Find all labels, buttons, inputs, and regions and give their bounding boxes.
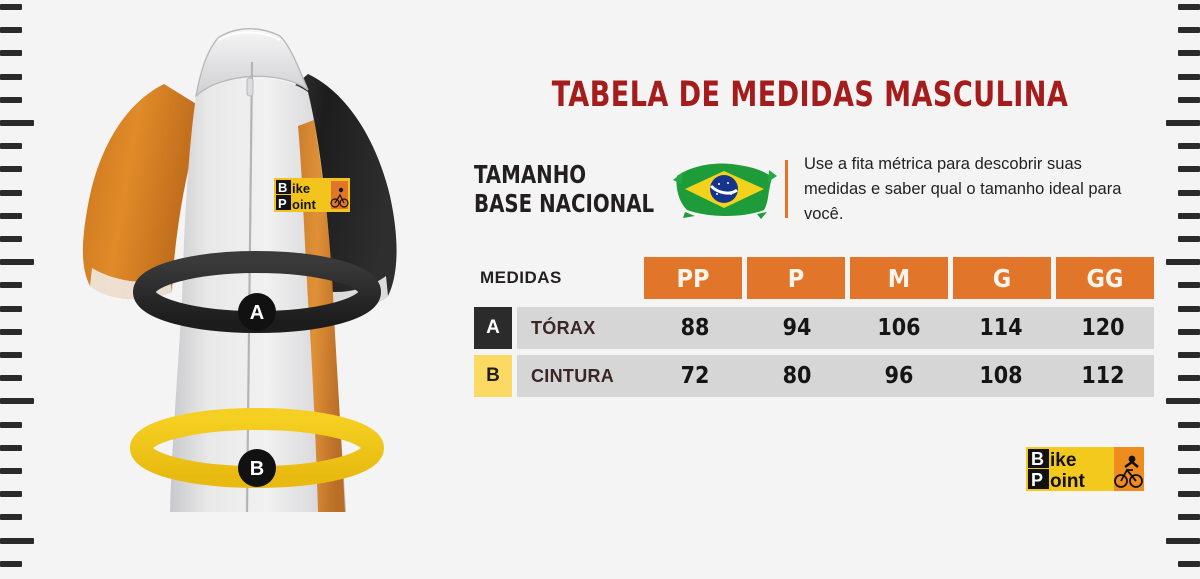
ruler-tick (1178, 282, 1200, 288)
ruler-tick (0, 236, 22, 242)
size-standard-label: TAMANHO BASE NACIONAL (474, 160, 654, 218)
torax-m: 106 (848, 315, 950, 341)
svg-text:oint: oint (1050, 471, 1085, 492)
ruler-tick (1178, 143, 1200, 149)
ruler-tick (0, 4, 22, 10)
ruler-tick (1178, 468, 1200, 474)
ruler-tick (0, 259, 34, 265)
instruction-text: Use a fita métrica para descobrir suas m… (804, 152, 1134, 227)
ruler-tick (1166, 398, 1200, 404)
size-chart-page: B ike P oint A B (0, 0, 1200, 579)
ruler-tick (0, 329, 22, 335)
ruler-tick (0, 190, 22, 196)
ruler-tick (1178, 422, 1200, 428)
svg-text:B: B (1031, 449, 1044, 469)
size-header-pp: PP (644, 257, 742, 299)
ruler-tick (1166, 120, 1200, 126)
ruler-tick (1178, 97, 1200, 103)
ruler-tick (1178, 50, 1200, 56)
cintura-pp: 72 (644, 363, 746, 389)
ruler-tick (1178, 166, 1200, 172)
torax-p: 94 (746, 315, 848, 341)
ruler-tick (0, 468, 22, 474)
ruler-tick (0, 398, 34, 404)
ruler-tick (1178, 329, 1200, 335)
measures-label: MEDIDAS (480, 268, 562, 287)
torax-g: 114 (950, 315, 1052, 341)
ruler-tick (0, 282, 22, 288)
ruler-tick (0, 74, 22, 80)
ruler-right (1154, 0, 1200, 579)
svg-text:B: B (278, 180, 287, 195)
band-b-label: B (250, 458, 264, 480)
ruler-tick (0, 514, 22, 520)
cintura-gg: 112 (1052, 363, 1154, 389)
ruler-tick (0, 50, 22, 56)
subtitle-row: TAMANHO BASE NACIONAL (474, 150, 1154, 228)
band-a-label: A (250, 302, 264, 324)
jersey-illustration: B ike P oint A B (46, 0, 466, 579)
ruler-tick (1178, 514, 1200, 520)
ruler-tick (1166, 259, 1200, 265)
ruler-tick (0, 120, 34, 126)
ruler-tick (0, 422, 22, 428)
ruler-tick (0, 538, 34, 544)
ruler-tick (1178, 190, 1200, 196)
ruler-tick (0, 213, 22, 219)
measurements-table: MEDIDAS PP P M G GG A TÓRAX 88 94 106 11… (474, 255, 1154, 397)
ruler-tick (0, 27, 22, 33)
ruler-tick (1178, 445, 1200, 451)
table-row-torax: A TÓRAX 88 94 106 114 120 (474, 307, 1154, 349)
ruler-tick (1178, 27, 1200, 33)
ruler-tick (1178, 306, 1200, 312)
torax-gg: 120 (1052, 315, 1154, 341)
row-body-torax: TÓRAX 88 94 106 114 120 (517, 307, 1154, 349)
ruler-tick (0, 143, 22, 149)
cintura-g: 108 (950, 363, 1052, 389)
page-title: TABELA DE MEDIDAS MASCULINA (514, 78, 1106, 113)
ruler-tick (0, 352, 22, 358)
size-standard-line2: BASE NACIONAL (474, 189, 654, 218)
svg-text:ike: ike (292, 181, 310, 196)
size-header-g: G (953, 257, 1051, 299)
ruler-tick (1178, 352, 1200, 358)
svg-text:P: P (1031, 470, 1043, 490)
svg-text:oint: oint (292, 197, 316, 212)
ruler-tick (0, 445, 22, 451)
ruler-tick (1178, 375, 1200, 381)
size-standard-line1: TAMANHO (474, 160, 654, 189)
svg-text:P: P (278, 196, 287, 211)
bike-point-logo: B ike P oint (1026, 443, 1144, 495)
ruler-left (0, 0, 46, 579)
ruler-tick (0, 561, 22, 567)
brazil-flag-icon (669, 156, 779, 222)
row-label-cintura: CINTURA (517, 366, 644, 387)
svg-text:ike: ike (1050, 450, 1076, 471)
size-header-p: P (747, 257, 845, 299)
ruler-tick (1166, 538, 1200, 544)
ruler-tick (1178, 74, 1200, 80)
ruler-tick (0, 306, 22, 312)
table-row-cintura: B CINTURA 72 80 96 108 112 (474, 355, 1154, 397)
cintura-m: 96 (848, 363, 950, 389)
ruler-tick (0, 491, 22, 497)
jersey-chest-logo: B ike P oint (274, 178, 350, 212)
ruler-tick (1178, 4, 1200, 10)
ruler-tick (1178, 561, 1200, 567)
size-header-gg: GG (1056, 257, 1154, 299)
row-label-torax: TÓRAX (517, 318, 644, 339)
vertical-divider (785, 160, 788, 218)
ruler-tick (0, 97, 22, 103)
torax-pp: 88 (644, 315, 746, 341)
cintura-p: 80 (746, 363, 848, 389)
table-header-row: MEDIDAS PP P M G GG (474, 255, 1154, 301)
measures-label-cell: MEDIDAS (474, 268, 644, 288)
size-header-m: M (850, 257, 948, 299)
row-badge-b: B (474, 355, 512, 397)
row-badge-a: A (474, 307, 512, 349)
ruler-tick (1178, 213, 1200, 219)
ruler-tick (0, 166, 22, 172)
ruler-tick (0, 375, 22, 381)
ruler-tick (1178, 491, 1200, 497)
row-body-cintura: CINTURA 72 80 96 108 112 (517, 355, 1154, 397)
ruler-tick (1178, 236, 1200, 242)
